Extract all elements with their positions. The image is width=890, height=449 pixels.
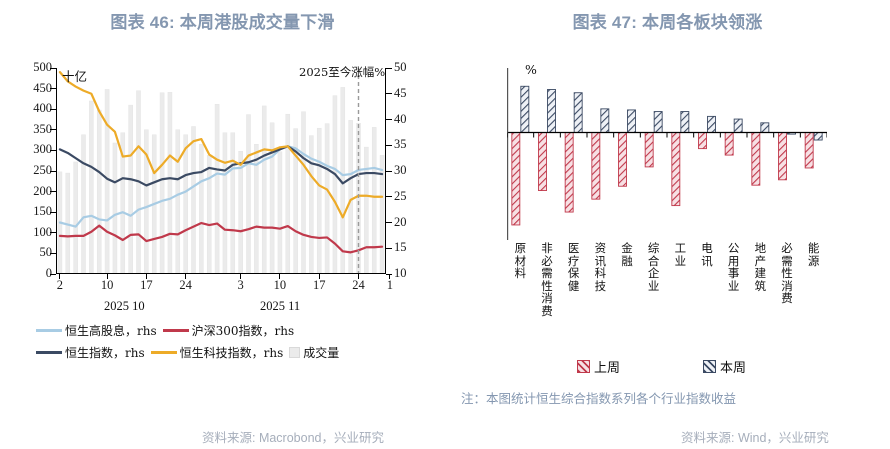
chart-46-right-axis-tick: 45: [394, 86, 418, 101]
chart-46-left-axis-tick-mark: [50, 253, 56, 254]
chart-46-legend-row-1: 恒生高股息，rhs 沪深300指数，rhs: [36, 322, 300, 339]
chart-46-unit-label: 十亿: [62, 66, 87, 85]
chart-46-right-axis-tick: 20: [394, 215, 418, 230]
chart-46-legend-row-2: 恒生指数，rhs 恒生科技指数，rhs 成交量: [36, 344, 345, 361]
chart-46-right-axis-tick-mark: [386, 196, 392, 197]
legend-label: 本周: [720, 357, 746, 376]
chart-47-legend-last-week[interactable]: 上周: [577, 357, 620, 376]
chart-47-legend-this-week[interactable]: 本周: [703, 357, 746, 376]
chart-46-x-axis-tick: 2: [45, 278, 75, 293]
legend-swatch-line: [151, 351, 177, 354]
chart-46-left-axis-tick-mark: [50, 171, 56, 172]
legend-swatch-box: [289, 347, 300, 358]
legend-label: 成交量: [303, 344, 339, 361]
chart-46-right-axis-tick-mark: [386, 171, 392, 172]
page-root: 图表 46: 本周港股成交量下滑 05010015020025030035040…: [0, 0, 890, 449]
chart-47-category-label: 金融: [620, 242, 634, 267]
chart-46-x-axis-tick-mark: [319, 274, 320, 279]
chart-47-category-label: 能源: [807, 242, 821, 267]
legend-swatch-this-week: [703, 360, 716, 373]
chart-47-category-label: 综合企业: [647, 242, 661, 292]
chart-46-left-axis-tick: 450: [20, 81, 52, 96]
legend-swatch-last-week: [577, 360, 590, 373]
legend-label: 上周: [594, 357, 620, 376]
legend-item-turnover[interactable]: 成交量: [289, 344, 339, 361]
chart-46-right-axis-tick-mark: [386, 93, 392, 94]
chart-46-x-axis-tick: 10: [265, 278, 295, 293]
chart-46-left-axis-tick: 500: [20, 60, 52, 75]
legend-label: 恒生高股息，rhs: [65, 322, 157, 339]
chart-46-right-axis-tick-mark: [386, 68, 392, 69]
chart-46-x-axis-tick-mark: [107, 274, 108, 279]
chart-46-x-axis-tick-mark: [59, 274, 60, 279]
chart-46-right-axis-annotation: 2025至今涨幅%: [299, 64, 385, 80]
legend-swatch-line: [163, 329, 189, 332]
chart-46-right-axis-tick: 15: [394, 240, 418, 255]
chart-47-category-label: 原材料: [513, 242, 527, 280]
chart-46-left-axis-tick-mark: [50, 191, 56, 192]
legend-swatch-line: [36, 329, 62, 332]
chart-46-title: 图表 46: 本周港股成交量下滑: [0, 8, 445, 33]
chart-47-category-label: 电讯: [700, 242, 714, 267]
legend-item-hang-seng-index[interactable]: 恒生指数，rhs: [36, 344, 145, 361]
legend-item-hang-seng-high-dividend[interactable]: 恒生高股息，rhs: [36, 322, 157, 339]
chart-46-plot-area: [56, 68, 386, 274]
chart-46-left-axis-tick: 50: [20, 245, 52, 260]
chart-46-left-axis-tick: 250: [20, 163, 52, 178]
chart-46-svg: [56, 68, 386, 274]
chart-46-x-axis-tick-mark: [185, 274, 186, 279]
chart-46-x-axis-tick-mark: [389, 274, 390, 279]
chart-47-note: 注：本图统计恒生综合指数系列各个行业指数收益: [461, 388, 736, 407]
chart-47-category-label: 必需性消费: [780, 242, 794, 305]
legend-item-csi-300[interactable]: 沪深300指数，rhs: [163, 322, 295, 339]
chart-46-left-axis-tick-mark: [50, 212, 56, 213]
legend-label: 沪深300指数，rhs: [192, 322, 295, 339]
chart-46-x-band-label-2: 2025 11: [260, 299, 300, 314]
chart-46-right-axis-tick: 40: [394, 112, 418, 127]
chart-46-left-axis-tick-mark: [50, 150, 56, 151]
chart-46-x-axis-tick: 17: [304, 278, 334, 293]
chart-47-plot-area: [507, 68, 827, 240]
chart-46-panel: 图表 46: 本周港股成交量下滑 05010015020025030035040…: [0, 0, 445, 449]
chart-46-left-axis-tick-mark: [50, 68, 56, 69]
chart-47-category-label: 资讯科技: [593, 242, 607, 292]
chart-46-x-axis-tick-mark: [358, 274, 359, 279]
chart-46-x-axis-tick: 3: [226, 278, 256, 293]
chart-46-left-axis-tick: 100: [20, 225, 52, 240]
chart-46-right-axis-tick-mark: [386, 248, 392, 249]
chart-46-source: 资料来源: Macrobond，兴业研究: [202, 427, 384, 446]
chart-46-right-axis-tick-mark: [386, 222, 392, 223]
legend-label: 恒生指数，rhs: [65, 344, 145, 361]
chart-46-right-axis-tick: 35: [394, 137, 418, 152]
chart-46-left-axis-tick: 350: [20, 122, 52, 137]
chart-46-left-axis-tick: 150: [20, 204, 52, 219]
legend-swatch-line: [36, 351, 62, 354]
chart-47-category-label: 公用事业: [727, 242, 741, 292]
chart-46-x-axis-tick: 17: [131, 278, 161, 293]
chart-46-right-axis-tick: 50: [394, 60, 418, 75]
chart-47-source: 资料来源: Wind，兴业研究: [681, 427, 829, 446]
chart-46-left-axis-tick-mark: [50, 274, 56, 275]
chart-46-left-axis-tick: 400: [20, 101, 52, 116]
chart-46-right-axis-tick: 30: [394, 163, 418, 178]
chart-46-x-band-label-1: 2025 10: [104, 299, 145, 314]
chart-46-x-axis-tick-mark: [146, 274, 147, 279]
chart-46-x-axis-tick: 24: [344, 278, 374, 293]
chart-47-category-label: 地产建筑: [753, 242, 767, 292]
chart-46-right-axis-tick-mark: [386, 119, 392, 120]
chart-46-right-axis-tick-mark: [386, 145, 392, 146]
chart-46-x-axis-tick-mark: [279, 274, 280, 279]
legend-label: 恒生科技指数，rhs: [180, 344, 284, 361]
chart-46-left-axis-tick-mark: [50, 232, 56, 233]
chart-46-left-axis-tick: 200: [20, 184, 52, 199]
chart-47-category-label: 医疗保健: [567, 242, 581, 292]
chart-46-left-axis-tick: 300: [20, 142, 52, 157]
chart-46-right-axis-tick: 25: [394, 189, 418, 204]
chart-46-left-axis-tick-mark: [50, 129, 56, 130]
chart-46-x-axis-tick: 10: [92, 278, 122, 293]
chart-46-left-axis-tick-mark: [50, 109, 56, 110]
chart-47-category-label: 工业: [673, 242, 687, 267]
chart-46-x-axis-tick-mark: [240, 274, 241, 279]
chart-47-unit-label: %: [525, 62, 537, 77]
legend-item-hang-seng-tech[interactable]: 恒生科技指数，rhs: [151, 344, 284, 361]
chart-46-x-axis-tick: 1: [375, 278, 405, 293]
chart-47-panel: 图表 47: 本周各板块领涨 6420-2-4-6-8-10 原材料非必需性消费…: [445, 0, 890, 449]
chart-46-left-axis-tick-mark: [50, 88, 56, 89]
chart-47-svg: [507, 68, 827, 240]
chart-46-x-axis-tick: 24: [171, 278, 201, 293]
chart-47-title: 图表 47: 本周各板块领涨: [445, 8, 890, 33]
chart-47-category-label: 非必需性消费: [540, 242, 554, 318]
